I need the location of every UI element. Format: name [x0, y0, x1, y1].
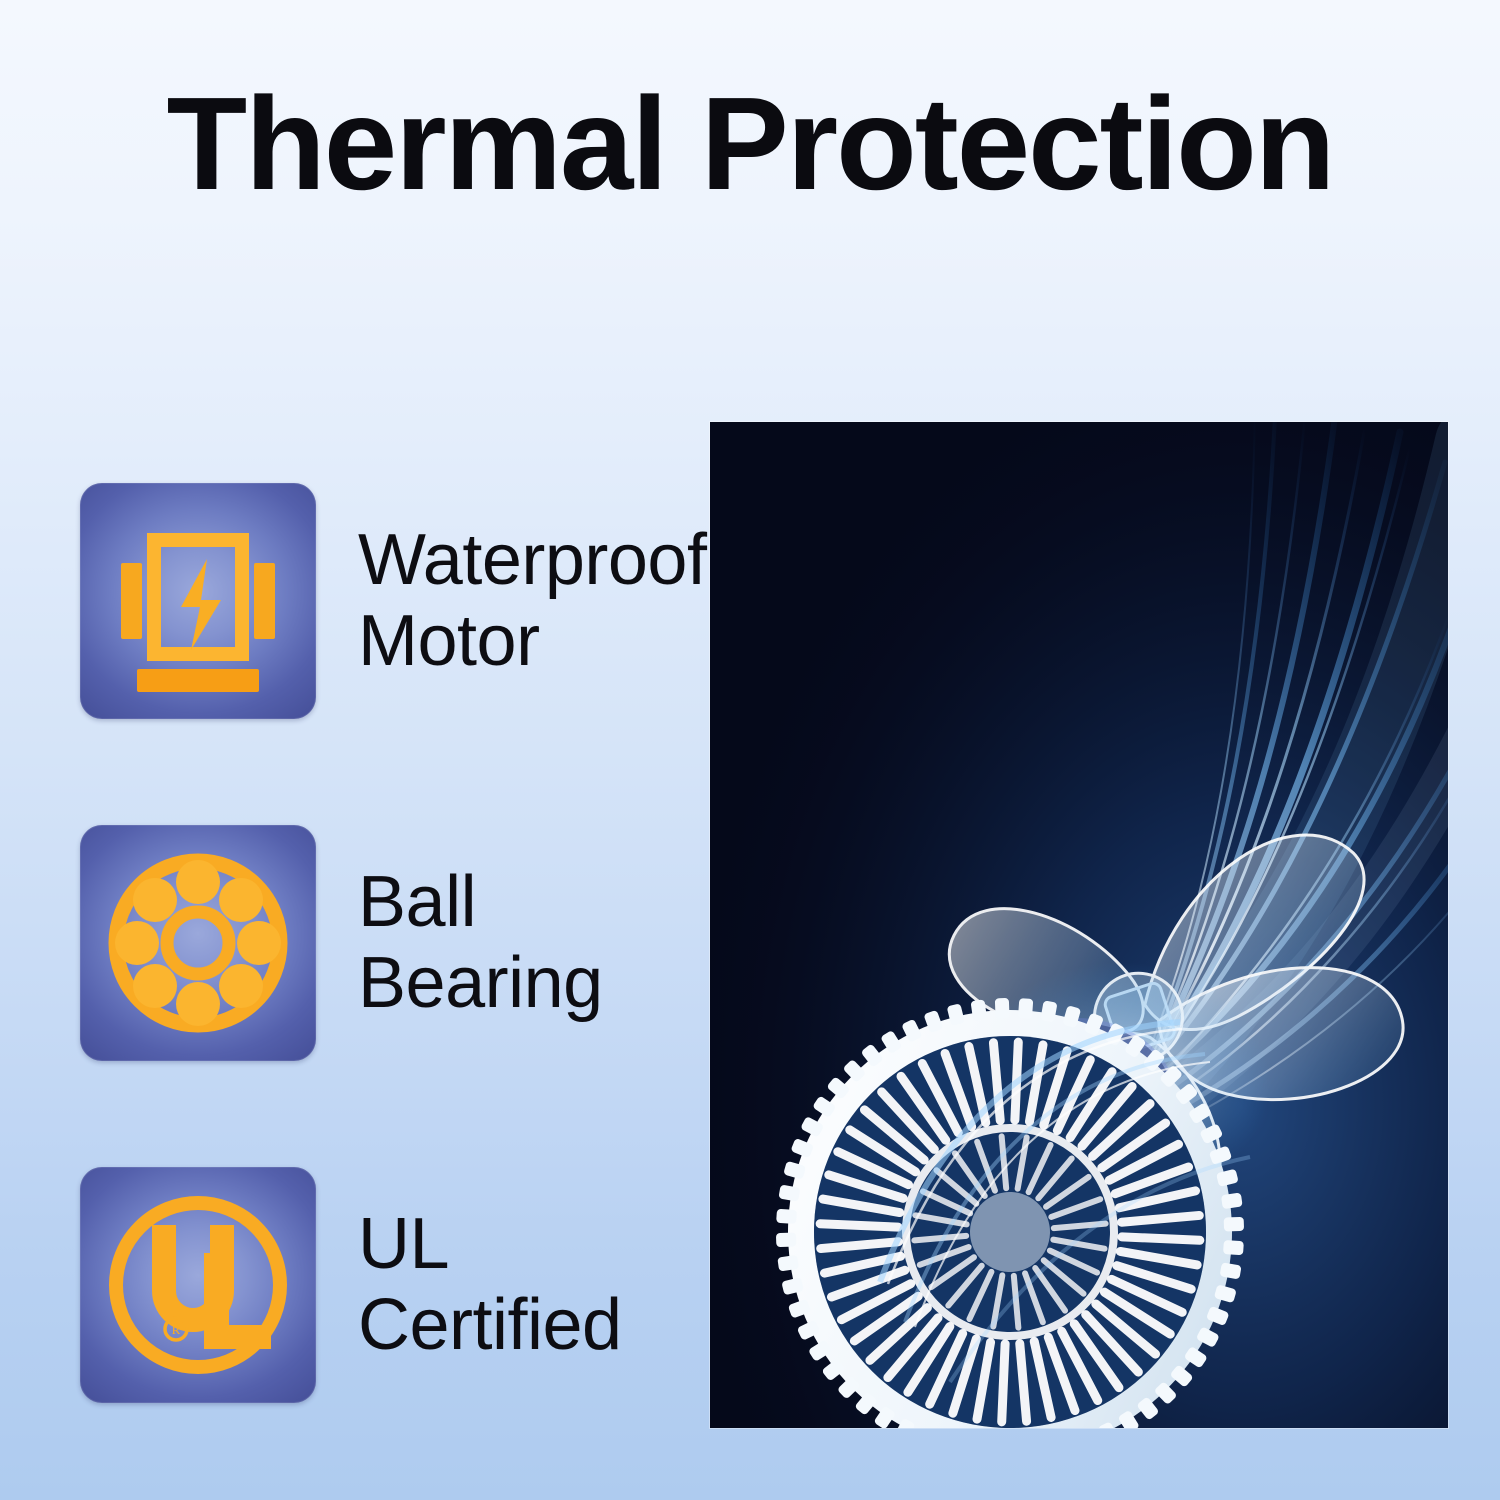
- feature-label: Waterproof Motor: [358, 520, 706, 683]
- feature-item-ul-certified: R UL Certified: [80, 1167, 700, 1403]
- product-image-panel: [710, 422, 1448, 1428]
- page-title: Thermal Protection: [0, 78, 1500, 210]
- fan-motor-illustration: [710, 422, 1448, 1428]
- feature-icon-tile: R: [80, 1167, 316, 1403]
- infographic-page: Thermal Protection: [0, 0, 1500, 1500]
- feature-icon-tile: [80, 483, 316, 719]
- feature-list: Waterproof Motor: [80, 483, 700, 1403]
- feature-item-ball-bearing: Ball Bearing: [80, 825, 700, 1061]
- feature-icon-tile: [80, 825, 316, 1061]
- feature-label: UL Certified: [358, 1204, 622, 1367]
- feature-item-waterproof-motor: Waterproof Motor: [80, 483, 700, 719]
- feature-label: Ball Bearing: [358, 862, 603, 1025]
- svg-text:R: R: [172, 1322, 181, 1337]
